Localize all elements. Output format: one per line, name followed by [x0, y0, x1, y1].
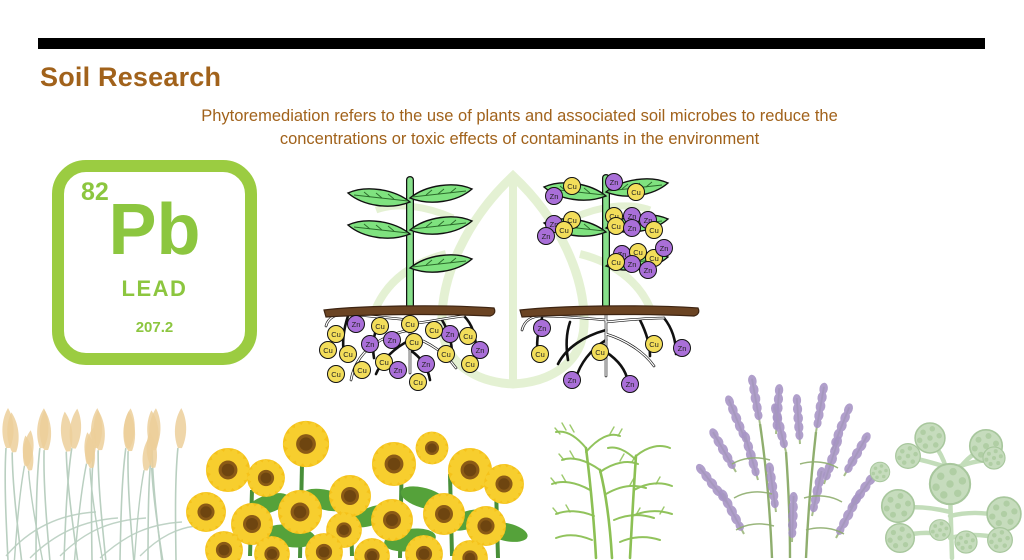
svg-text:Zn: Zn — [644, 266, 653, 275]
svg-text:Zn: Zn — [660, 244, 669, 253]
svg-text:Cu: Cu — [611, 222, 621, 231]
svg-text:Cu: Cu — [611, 258, 621, 267]
svg-text:Zn: Zn — [550, 192, 559, 201]
sunflowers — [185, 420, 529, 560]
svg-text:Zn: Zn — [628, 224, 637, 233]
ragweed — [551, 423, 672, 558]
page-subtitle: Phytoremediation refers to the use of pl… — [97, 105, 942, 151]
header-rule — [38, 38, 985, 49]
poster-canvas: Soil Research Phytoremediation refers to… — [0, 0, 1024, 560]
subtitle-line-1: Phytoremediation refers to the use of pl… — [201, 107, 838, 125]
page-title: Soil Research — [40, 62, 221, 93]
svg-text:Cu: Cu — [405, 320, 415, 329]
svg-text:Cu: Cu — [559, 226, 569, 235]
lavender-amorpha — [693, 374, 883, 558]
svg-text:Zn: Zn — [628, 260, 637, 269]
globe-thistle — [870, 423, 1021, 558]
element-name: LEAD — [64, 276, 245, 302]
soil-line — [520, 306, 699, 317]
svg-text:Zn: Zn — [542, 232, 551, 241]
ornamental-grass — [2, 408, 196, 560]
svg-text:Cu: Cu — [631, 188, 641, 197]
svg-text:Cu: Cu — [567, 182, 577, 191]
element-symbol: Pb — [64, 194, 245, 266]
svg-text:Zn: Zn — [610, 178, 619, 187]
plant-band — [0, 330, 1024, 560]
svg-text:Zn: Zn — [352, 320, 361, 329]
svg-text:Cu: Cu — [649, 226, 659, 235]
subtitle-line-2: concentrations or toxic effects of conta… — [97, 128, 942, 151]
